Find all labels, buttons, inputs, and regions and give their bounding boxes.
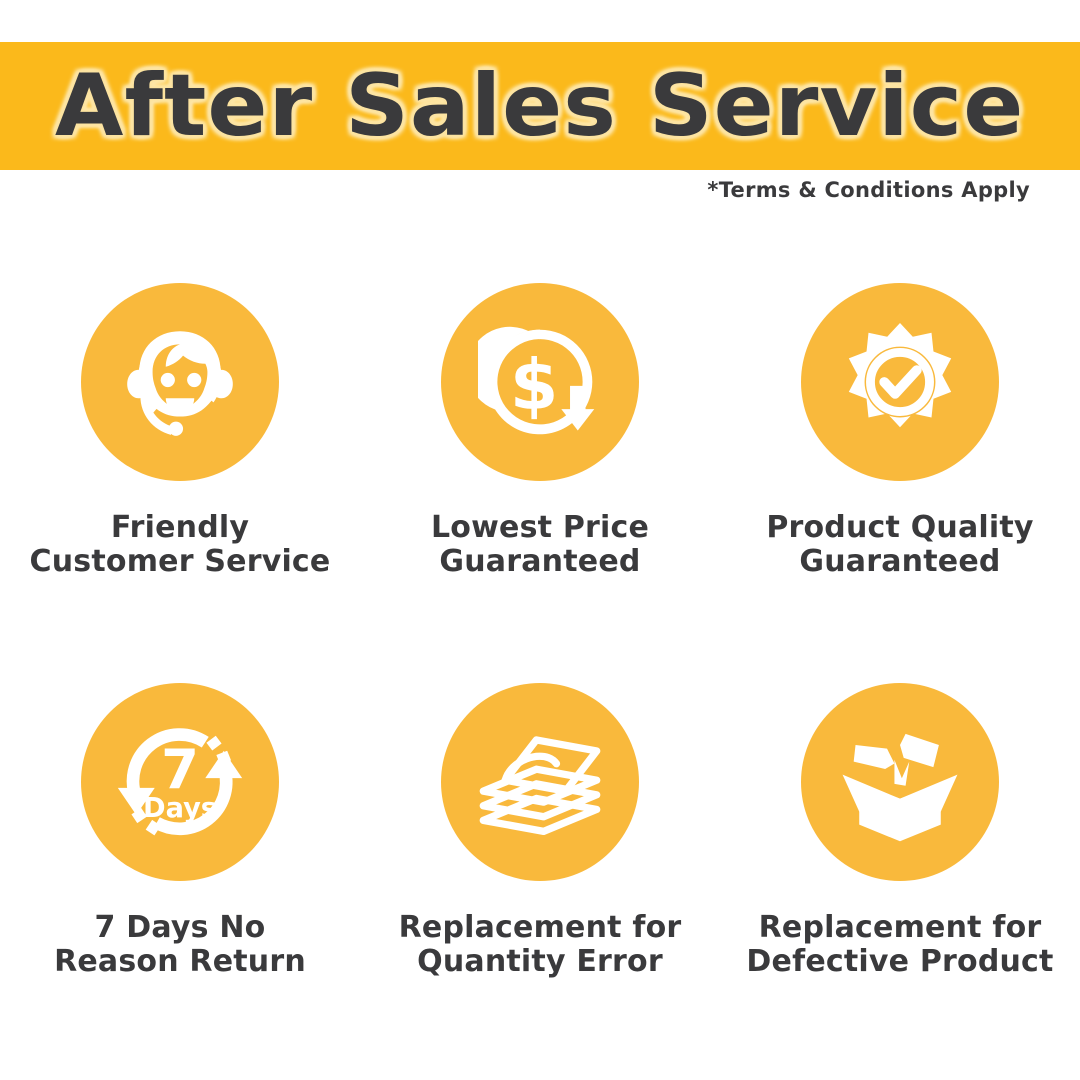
feature-item-lowest-price-guaranteed: $ Lowest Price Guaranteed (360, 250, 720, 650)
icon-circle (81, 283, 279, 481)
feature-caption-line2: Guaranteed (431, 545, 649, 579)
icon-circle (441, 683, 639, 881)
feature-caption-line2: Defective Product (746, 945, 1053, 979)
feature-item-friendly-customer-service: Friendly Customer Service (0, 250, 360, 650)
icon-circle: $ (441, 283, 639, 481)
stacked-papers-icon (476, 723, 604, 841)
feature-caption: Friendly Customer Service (30, 511, 331, 578)
icon-unit-label: Days (143, 793, 217, 824)
page-title: After Sales Service (55, 63, 1024, 149)
header-banner: After Sales Service (0, 42, 1080, 170)
feature-item-seven-days-no-reason-return: 7 Days 7 Days No Reason Return (0, 650, 360, 1050)
feature-caption-line2: Quantity Error (399, 945, 682, 979)
feature-caption-line2: Guaranteed (766, 545, 1033, 579)
feature-caption: Replacement for Defective Product (746, 911, 1053, 978)
feature-caption-line1: Replacement for (399, 910, 682, 945)
feature-caption: 7 Days No Reason Return (54, 911, 306, 978)
feature-caption-line1: 7 Days No (95, 910, 266, 945)
features-grid: Friendly Customer Service (0, 250, 1080, 1050)
icon-circle: 7 Days (81, 683, 279, 881)
feature-caption: Lowest Price Guaranteed (431, 511, 649, 578)
seven-days-return-arrows-icon: 7 Days (112, 714, 248, 850)
feature-caption-line2: Reason Return (54, 945, 306, 979)
icon-number-label: 7 (161, 738, 199, 801)
feature-caption-line1: Replacement for (759, 910, 1042, 945)
damaged-open-box-icon (835, 719, 965, 845)
feature-caption-line2: Customer Service (30, 545, 331, 579)
headset-customer-service-icon (115, 317, 245, 447)
after-sales-service-poster: After Sales Service *Terms & Conditions … (0, 0, 1080, 1080)
quality-badge-check-icon (837, 319, 963, 445)
feature-caption-line1: Product Quality (766, 510, 1033, 545)
feature-caption-line1: Friendly (111, 510, 249, 545)
feature-item-replacement-quantity-error: Replacement for Quantity Error (360, 650, 720, 1050)
terms-and-conditions-note: *Terms & Conditions Apply (707, 178, 1030, 202)
feature-caption-line1: Lowest Price (431, 510, 649, 545)
icon-circle (801, 683, 999, 881)
icon-circle (801, 283, 999, 481)
feature-caption: Product Quality Guaranteed (766, 511, 1033, 578)
feature-caption: Replacement for Quantity Error (399, 911, 682, 978)
dollar-price-down-arrow-icon: $ (478, 320, 602, 444)
svg-text:$: $ (510, 345, 559, 426)
feature-item-replacement-defective-product: Replacement for Defective Product (720, 650, 1080, 1050)
feature-item-product-quality-guaranteed: Product Quality Guaranteed (720, 250, 1080, 650)
